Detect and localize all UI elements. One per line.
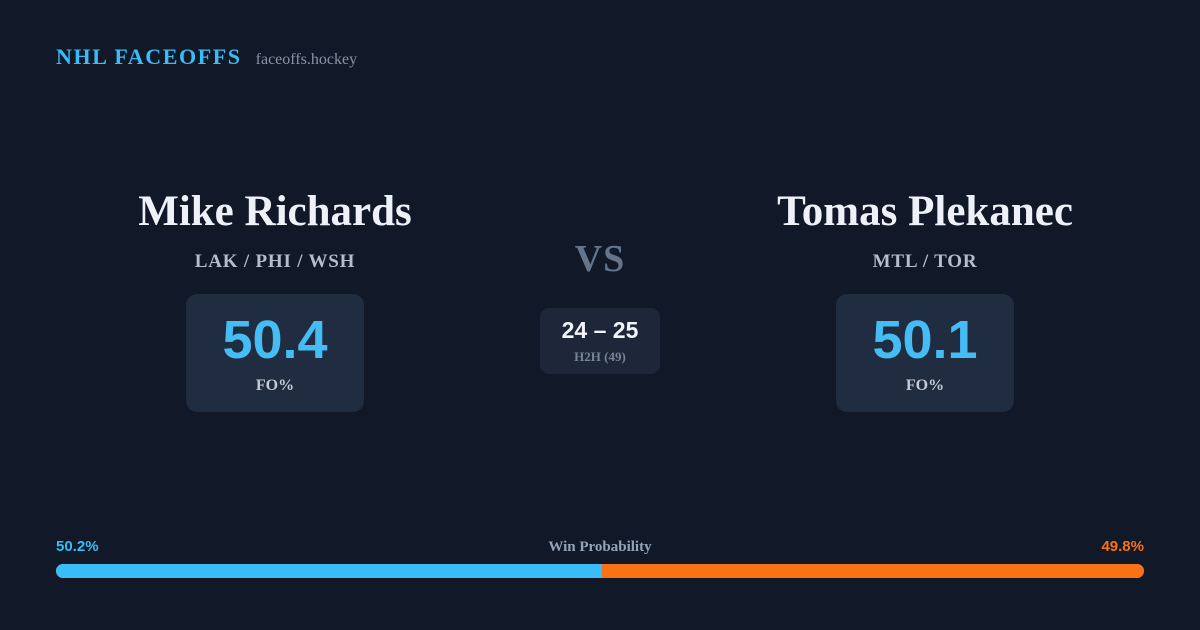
player-card-left: Mike Richards LAK / PHI / WSH 50.4 FO%: [60, 190, 490, 412]
player-teams-right: MTL / TOR: [873, 252, 978, 271]
faceoff-label-left: FO%: [256, 378, 294, 394]
win-probability-section: 50.2% Win Probability 49.8%: [56, 539, 1144, 578]
versus-column: VS 24 – 25 H2H (49): [490, 190, 710, 374]
head-to-head-score: 24 – 25: [562, 319, 639, 342]
win-probability-right-value: 49.8%: [1101, 539, 1144, 554]
versus-label: VS: [575, 240, 626, 278]
player-name-right: Tomas Plekanec: [777, 190, 1073, 233]
win-probability-title: Win Probability: [548, 540, 651, 555]
site-header: NHL FACEOFFS faceoffs.hockey: [56, 46, 357, 68]
win-probability-bar: [56, 564, 1144, 578]
player-card-right: Tomas Plekanec MTL / TOR 50.1 FO%: [710, 190, 1140, 412]
win-probability-labels: 50.2% Win Probability 49.8%: [56, 539, 1144, 555]
brand-title: NHL FACEOFFS: [56, 46, 242, 68]
faceoff-stat-card-left: 50.4 FO%: [186, 294, 364, 412]
win-probability-bar-right-fill: [602, 564, 1144, 578]
matchup-section: Mike Richards LAK / PHI / WSH 50.4 FO% V…: [0, 190, 1200, 412]
faceoff-value-left: 50.4: [222, 313, 327, 367]
faceoff-label-right: FO%: [906, 378, 944, 394]
win-probability-left-value: 50.2%: [56, 539, 99, 554]
brand-domain: faceoffs.hockey: [256, 52, 357, 68]
player-name-left: Mike Richards: [138, 190, 412, 233]
faceoff-stat-card-right: 50.1 FO%: [836, 294, 1014, 412]
player-teams-left: LAK / PHI / WSH: [195, 252, 356, 271]
win-probability-bar-left-fill: [56, 564, 602, 578]
faceoff-value-right: 50.1: [872, 313, 977, 367]
head-to-head-sublabel: H2H (49): [574, 350, 626, 363]
head-to-head-card: 24 – 25 H2H (49): [540, 308, 660, 374]
